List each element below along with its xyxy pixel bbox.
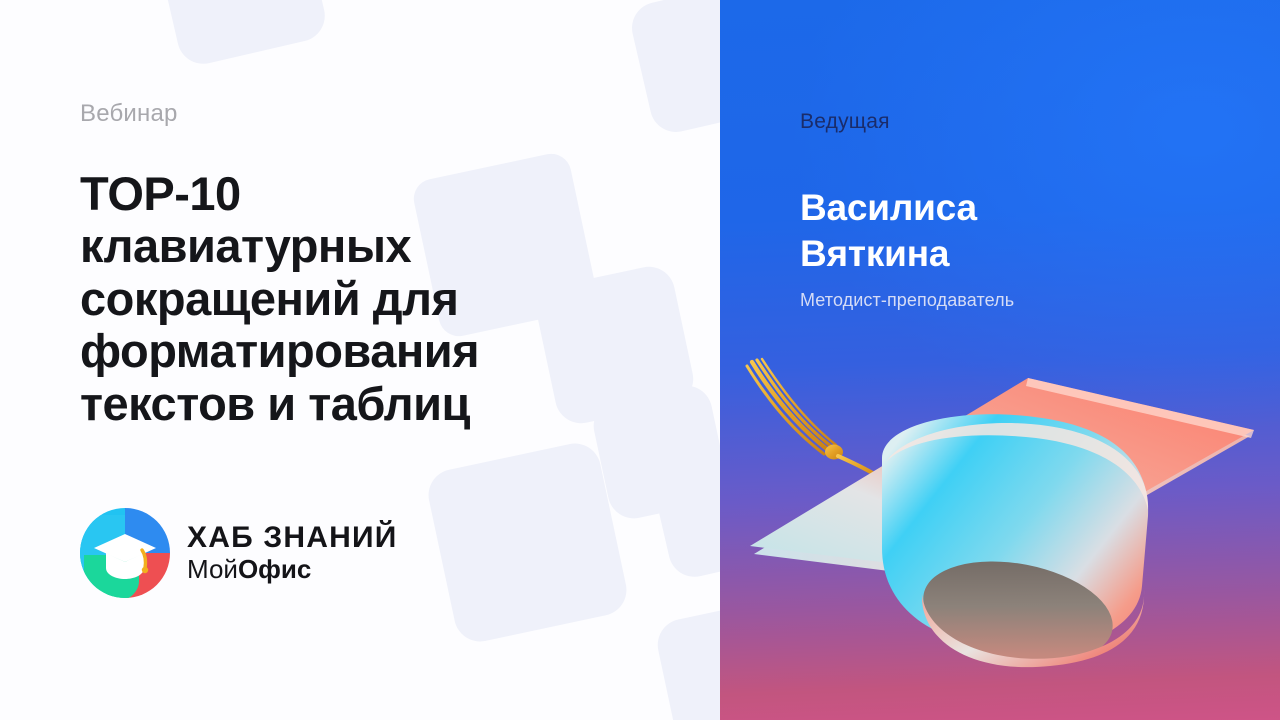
- slide-canvas: Вебинар TOP-10 клавиатурных сокращений д…: [0, 0, 1280, 720]
- brand-product-prefix: Мой: [187, 554, 238, 584]
- brand-product-suffix: Офис: [238, 554, 311, 584]
- host-kicker: Ведущая: [800, 110, 890, 134]
- brand-logo: ХАБ ЗНАНИЙ МойОфис: [80, 508, 398, 598]
- title-line-3: сокращений для: [80, 273, 600, 325]
- host-role: Методист-преподаватель: [800, 290, 1014, 311]
- brand-name: ХАБ ЗНАНИЙ: [187, 523, 398, 554]
- left-panel: Вебинар TOP-10 клавиатурных сокращений д…: [0, 0, 720, 720]
- host-name-line-1: Василиса: [800, 185, 977, 231]
- title-line-4: форматирования: [80, 325, 600, 377]
- brand-logo-text: ХАБ ЗНАНИЙ МойОфис: [187, 523, 398, 583]
- brand-product: МойОфис: [187, 555, 398, 584]
- decorative-square: [653, 598, 720, 720]
- host-name-line-2: Вяткина: [800, 231, 977, 277]
- page-title: TOP-10 клавиатурных сокращений для форма…: [80, 168, 600, 430]
- left-content: Вебинар TOP-10 клавиатурных сокращений д…: [80, 0, 640, 720]
- graduation-cap-circle-logo-icon: [80, 508, 170, 598]
- host-name: Василиса Вяткина: [800, 185, 977, 277]
- graduation-cap-3d-illustration: [730, 340, 1280, 720]
- title-line-2: клавиатурных: [80, 220, 600, 272]
- graduation-cap-glyph: [80, 508, 170, 598]
- right-panel: Ведущая Василиса Вяткина Методист-препод…: [720, 0, 1280, 720]
- title-line-1: TOP-10: [80, 168, 600, 220]
- decorative-square: [627, 0, 720, 137]
- title-line-5: текстов и таблиц: [80, 378, 600, 430]
- tassel-cord: [747, 359, 836, 454]
- webinar-kicker: Вебинар: [80, 100, 178, 128]
